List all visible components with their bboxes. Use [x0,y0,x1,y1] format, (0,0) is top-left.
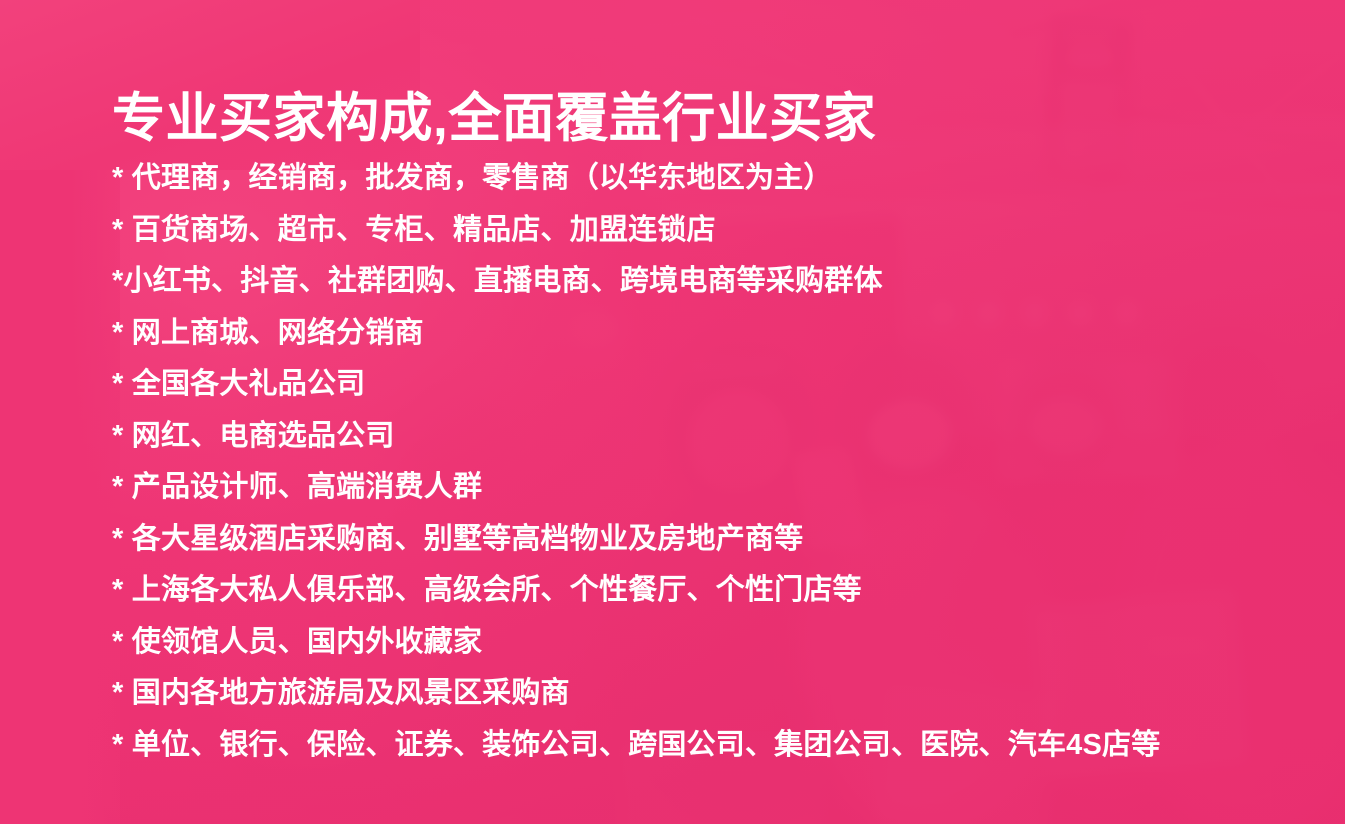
slide-root: 专业买家构成,全面覆盖行业买家 * 代理商，经销商，批发商，零售商（以华东地区为… [0,0,1345,824]
list-item: *小红书、抖音、社群团购、直播电商、跨境电商等采购群体 [112,256,1262,308]
list-item: * 产品设计师、高端消费人群 [112,462,1262,514]
list-item: * 单位、银行、保险、证券、装饰公司、跨国公司、集团公司、医院、汽车4S店等 [112,720,1262,772]
page-title: 专业买家构成,全面覆盖行业买家 [112,86,876,152]
list-item: * 上海各大私人俱乐部、高级会所、个性餐厅、个性门店等 [112,565,1262,617]
list-item: * 百货商场、超市、专柜、精品店、加盟连锁店 [112,205,1262,257]
list-item: * 全国各大礼品公司 [112,359,1262,411]
list-item: * 国内各地方旅游局及风景区采购商 [112,668,1262,720]
list-item: * 使领馆人员、国内外收藏家 [112,617,1262,669]
content-layer: 专业买家构成,全面覆盖行业买家 * 代理商，经销商，批发商，零售商（以华东地区为… [0,0,1345,824]
list-item: * 网红、电商选品公司 [112,411,1262,463]
buyer-category-list: * 代理商，经销商，批发商，零售商（以华东地区为主） * 百货商场、超市、专柜、… [112,153,1262,771]
list-item: * 网上商城、网络分销商 [112,308,1262,360]
list-item: * 代理商，经销商，批发商，零售商（以华东地区为主） [112,153,1262,205]
list-item: * 各大星级酒店采购商、别墅等高档物业及房地产商等 [112,514,1262,566]
